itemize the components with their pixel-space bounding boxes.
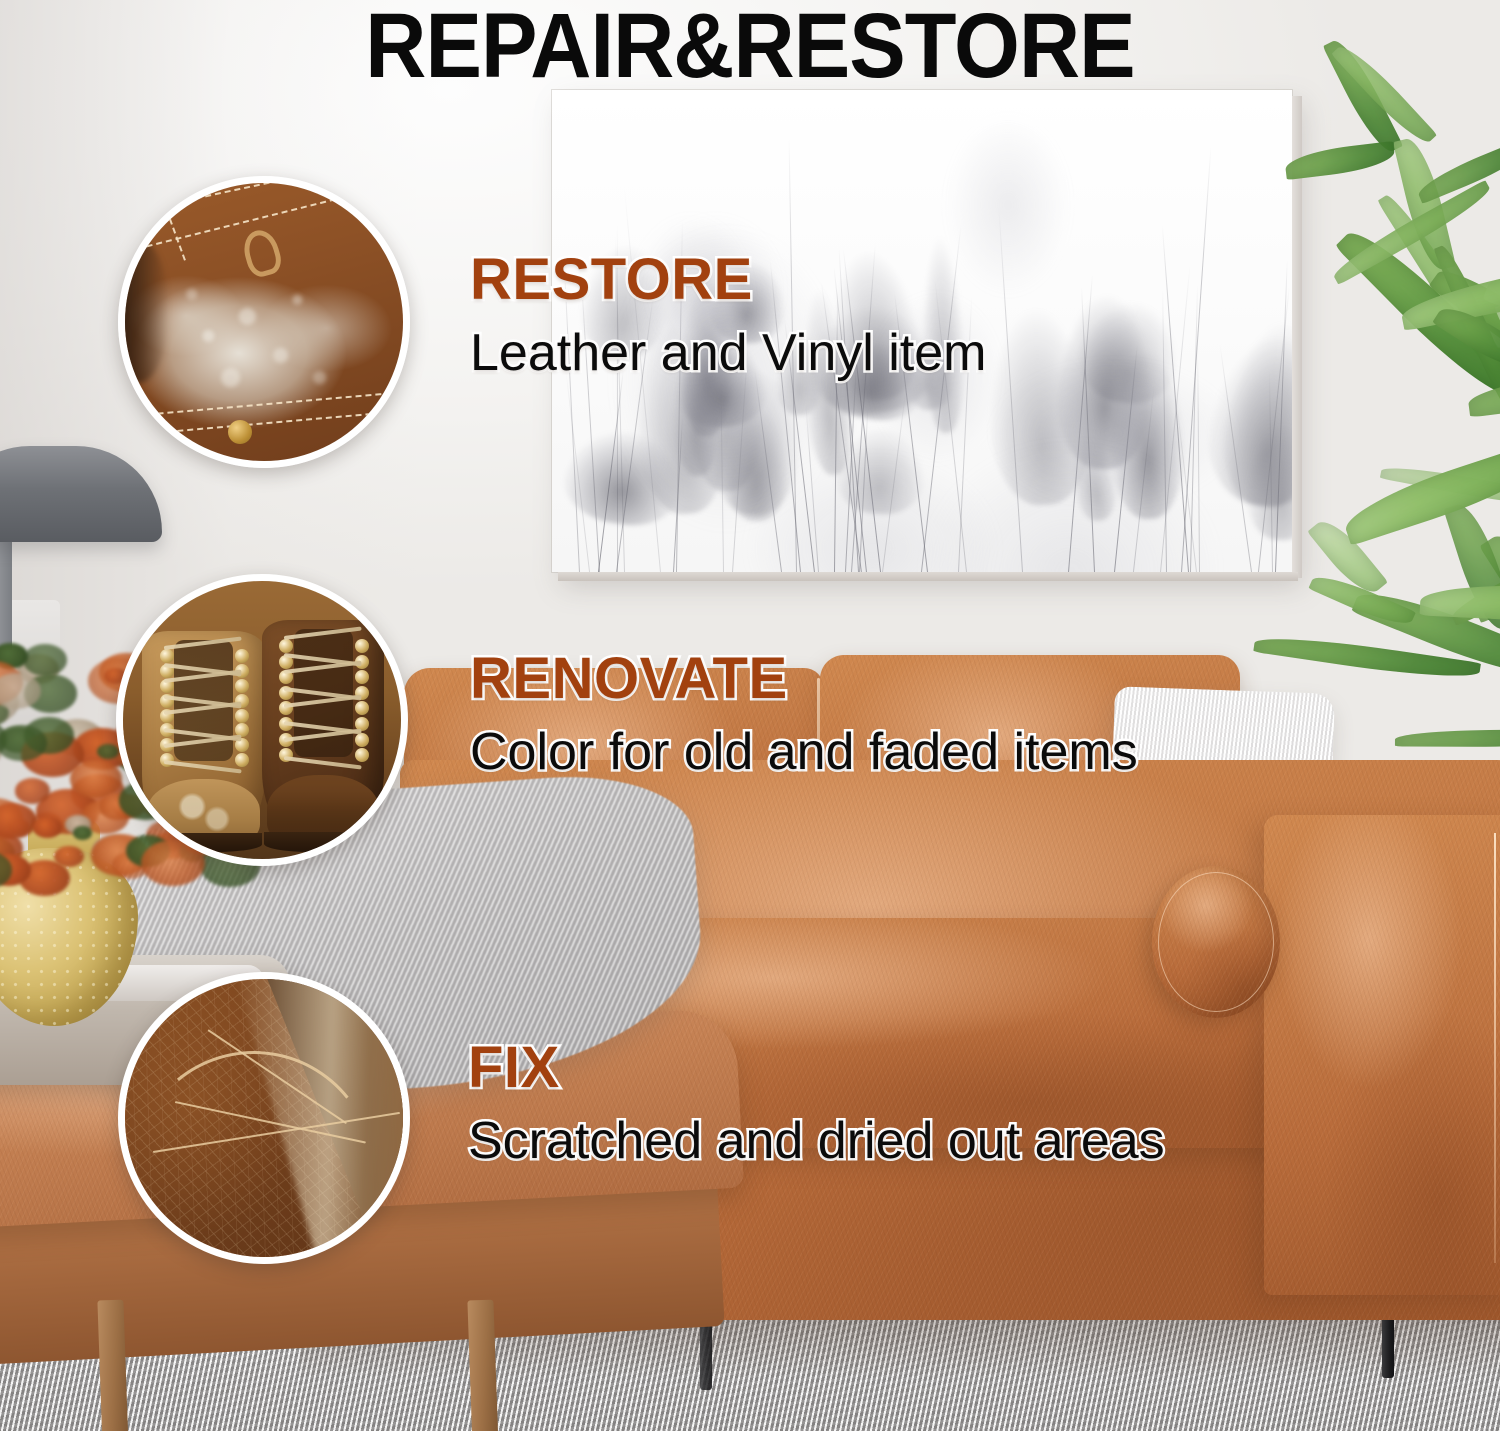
feature-subtitle-fix: Scratched and dried out areas xyxy=(468,1111,1165,1171)
feature-image-restore xyxy=(118,176,410,468)
dried-flower-cluster xyxy=(33,817,62,838)
plant-leaf xyxy=(1284,141,1396,180)
sofa-arm-right xyxy=(1264,815,1500,1295)
feature-subtitle-renovate: Color for old and faded items xyxy=(470,722,1138,782)
mold-patches xyxy=(125,183,403,461)
boot-eyelet xyxy=(355,670,369,684)
boot-eyelet xyxy=(355,639,369,653)
boot-eyelet xyxy=(279,639,293,653)
feature-subtitle-restore: Leather and Vinyl item xyxy=(470,323,986,383)
mouldy-leather-bag-closeup xyxy=(125,183,403,461)
feature-image-fix xyxy=(118,972,410,1264)
boot-eyelets-right xyxy=(355,634,367,775)
feature-title-restore: RESTORE xyxy=(470,246,986,313)
page-title: REPAIR&RESTORE xyxy=(60,0,1440,99)
arm-seam xyxy=(1494,833,1496,1263)
dried-flower-cluster xyxy=(15,778,50,803)
boot-lace xyxy=(284,756,362,770)
feature-image-renovate xyxy=(116,574,408,866)
wall-art-edge-bottom xyxy=(558,572,1298,581)
boot-sole xyxy=(145,833,262,853)
ottoman-leg-right xyxy=(467,1300,498,1431)
boot-eyelet xyxy=(160,649,174,663)
feature-title-fix: FIX xyxy=(468,1034,1165,1101)
feature-title-renovate: RENOVATE xyxy=(470,645,1138,712)
dried-flower-cluster xyxy=(23,644,67,675)
boot-restored-right xyxy=(262,620,384,848)
bolster-pillow xyxy=(1152,866,1280,1018)
leather-grain xyxy=(1264,815,1500,1295)
feature-text-renovate: RENOVATE Color for old and faded items xyxy=(470,645,1138,782)
boot-faded-left xyxy=(142,631,264,848)
boot-eyelets-right xyxy=(235,644,247,778)
boot-eyelet xyxy=(235,649,249,663)
boot-eyelet xyxy=(235,679,249,693)
product-feature-poster: REPAIR&RESTORE RESTORE Leather and Vinyl… xyxy=(0,0,1500,1431)
boot-lace xyxy=(164,760,242,774)
bolster-rim xyxy=(1158,872,1274,1012)
boot-sole xyxy=(264,832,381,853)
boot-eyelet xyxy=(355,748,369,762)
feature-text-restore: RESTORE Leather and Vinyl item xyxy=(470,246,986,383)
scratched-leather-closeup xyxy=(125,979,403,1257)
boot-eyelet xyxy=(355,733,369,747)
boot-eyelet xyxy=(235,753,249,767)
ottoman-leg-left xyxy=(97,1300,128,1431)
plant-leaf xyxy=(1395,730,1500,747)
boot-eyelet xyxy=(235,709,249,723)
lamp-neck xyxy=(0,530,12,650)
dried-flower-cluster xyxy=(70,760,123,798)
feature-text-fix: FIX Scratched and dried out areas xyxy=(468,1034,1165,1171)
boot-eyelet xyxy=(355,701,369,715)
worn-leather-boots-closeup xyxy=(123,581,401,859)
